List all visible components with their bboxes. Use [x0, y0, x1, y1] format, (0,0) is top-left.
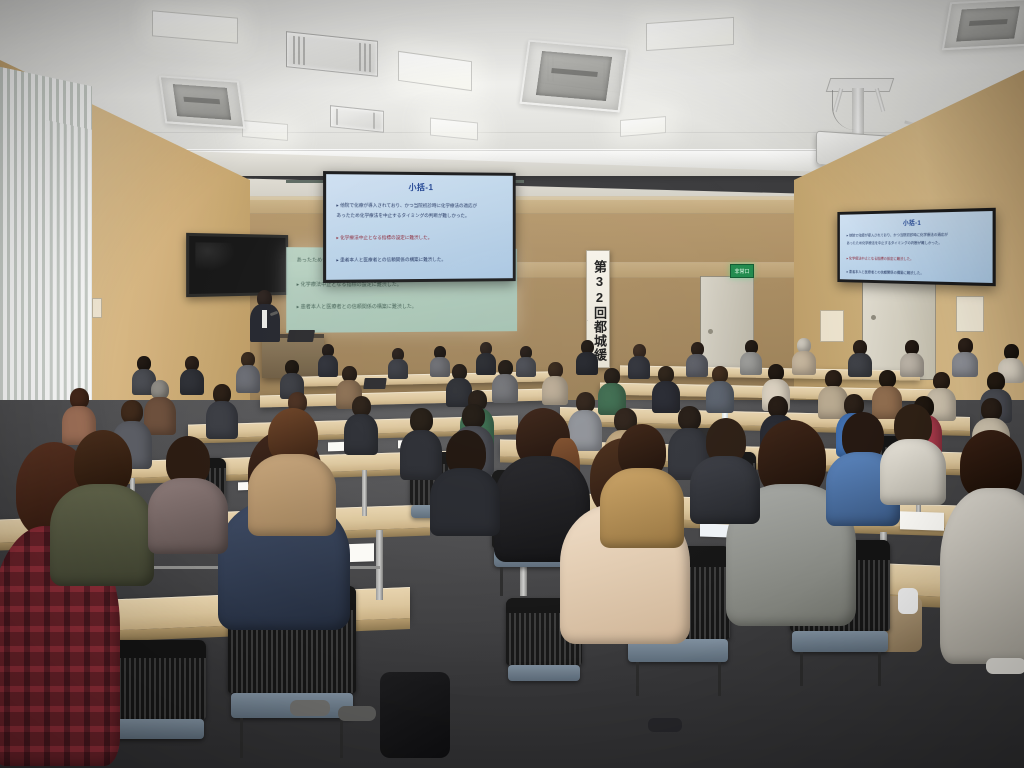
- ac-cassette-unit: [159, 75, 246, 129]
- vertical-blinds[interactable]: [46, 120, 92, 430]
- lecture-hall-photo: 非常口 あったため化学療法を中止するタイミングの判断が難しかった。 ▸ 化学療法…: [0, 0, 1024, 768]
- slide-body-line-1: ▸ 他院で化療が導入されており、かつ当院初診時に化学療法の適応が: [847, 232, 991, 238]
- slide-body-line-2: あったため化学療法を中止するタイミングの判断が難しかった。: [847, 241, 991, 246]
- attendee: [148, 436, 228, 548]
- attendee: [880, 404, 946, 500]
- attendee: [180, 356, 204, 394]
- attendee: [430, 430, 500, 530]
- slide-body-line-3: ▸ 化学療法中止となる指標の設定に難渋した。: [847, 257, 991, 263]
- slide-body-line-1: ▸ 他院で化療が導入されており、かつ当院初診時に化学療法の適応が: [336, 203, 510, 209]
- exit-sign-label: 非常口: [734, 268, 749, 275]
- attendee: [600, 424, 684, 542]
- attendee: [492, 360, 518, 402]
- camel-coat: [248, 454, 336, 536]
- slide-body-line-4: ▸ 患者本人と医療者との信頼関係の構築に難渋した。: [847, 270, 991, 277]
- ac-cassette-unit: [942, 0, 1024, 50]
- wall-trim-band: [150, 196, 890, 214]
- slide-surface: 小括-1 ▸ 他院で化療が導入されており、かつ当院初診時に化学療法の適応が あっ…: [326, 174, 513, 280]
- window: [46, 120, 92, 430]
- shoe: [338, 706, 376, 721]
- attendee: [516, 346, 536, 376]
- slide-body-line-4: ▸ 患者本人と医療者との信頼関係の構築に難渋した。: [336, 257, 510, 264]
- attendee: [542, 362, 568, 404]
- shoe: [648, 718, 682, 732]
- wall-monitor[interactable]: [186, 233, 288, 297]
- attendee: [576, 340, 598, 374]
- attendee: [706, 366, 734, 412]
- presenter: [248, 290, 282, 342]
- light-jacket: [940, 488, 1024, 664]
- ac-cassette-unit: [520, 40, 629, 113]
- bag-accessory[interactable]: [898, 588, 918, 614]
- shoe: [986, 658, 1024, 674]
- wall-notice: [956, 296, 984, 332]
- exit-sign: 非常口: [730, 264, 754, 278]
- attendee: [236, 352, 260, 392]
- door-handle[interactable]: [871, 315, 876, 320]
- projection-line-2: ▸ 化学療法中止となる指標の設定に難渋した。: [297, 282, 402, 289]
- attendee: [792, 338, 816, 374]
- attendee: [318, 344, 338, 376]
- attendee: [248, 408, 336, 528]
- desk-leg: [362, 470, 367, 516]
- podium-laptop[interactable]: [287, 330, 315, 342]
- attendee-laptop[interactable]: [363, 378, 387, 389]
- attendee: [740, 340, 762, 374]
- desk-leg: [376, 530, 383, 600]
- slide-title: 小括-1: [326, 181, 513, 193]
- wall-notice: [820, 310, 844, 342]
- attendee-foreground: [940, 430, 1024, 660]
- slide-body-line-2: あったため化学療法を中止するタイミングの判断が難しかった。: [336, 213, 510, 219]
- attendee: [388, 348, 408, 378]
- attendee: [50, 430, 154, 580]
- attendee: [900, 340, 924, 376]
- attendee: [686, 342, 708, 376]
- mustard-cardigan: [600, 468, 684, 548]
- wall-plaque: [92, 298, 102, 318]
- backpack[interactable]: [380, 672, 450, 758]
- attendee: [952, 338, 978, 376]
- right-presentation-screen[interactable]: 小括-1 ▸ 他院で化療が導入されており、かつ当院初診時に化学療法の適応が あっ…: [837, 208, 995, 287]
- door-handle[interactable]: [708, 329, 713, 334]
- slide-body-line-3: ▸ 化学療法中止となる指標の設定に難渋した。: [336, 235, 510, 241]
- presenter-shirt: [262, 310, 267, 328]
- handout-paper[interactable]: [900, 511, 944, 531]
- shoe: [290, 700, 330, 716]
- attendee: [690, 418, 760, 518]
- main-presentation-screen[interactable]: 小括-1 ▸ 他院で化療が導入されており、かつ当院初診時に化学療法の適応が あっ…: [323, 171, 516, 283]
- slide-surface: 小括-1 ▸ 他院で化療が導入されており、かつ当院初診時に化学療法の適応が あっ…: [840, 211, 993, 283]
- attendee: [848, 340, 872, 376]
- olive-sweater: [50, 484, 154, 586]
- attendee: [628, 344, 650, 378]
- slide-title: 小括-1: [840, 216, 993, 228]
- projection-line-3: ▸ 患者本人と医療者との信頼関係の構築に難渋した。: [297, 304, 417, 311]
